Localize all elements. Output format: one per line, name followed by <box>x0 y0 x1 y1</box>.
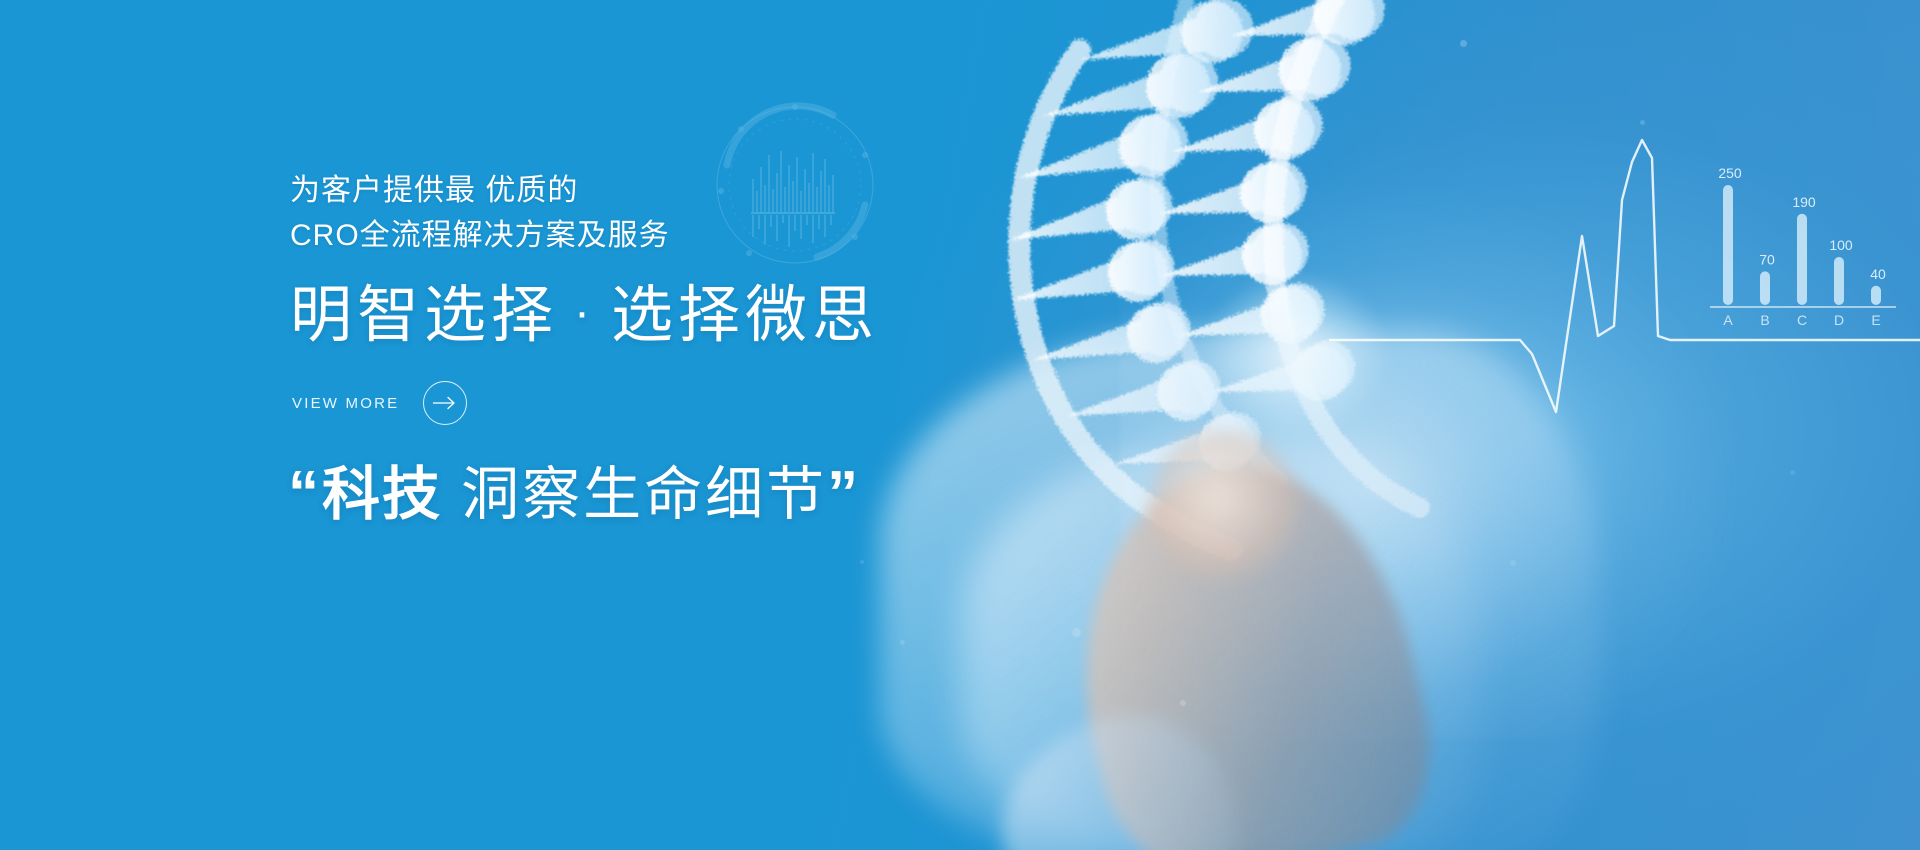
hero-content: 为客户提供最 优质的 CRO全流程解决方案及服务 明智选择·选择微思 VIEW … <box>290 0 1190 850</box>
chart-value-label: 100 <box>1829 237 1853 253</box>
bokeh-dot <box>1790 470 1795 475</box>
quote-close-mark: ” <box>827 459 861 528</box>
hero-subtitle-line1: 为客户提供最 优质的 <box>290 174 578 207</box>
chart-category-label: E <box>1871 312 1880 328</box>
quote-light-text: 洞察生命细节 <box>461 462 827 527</box>
chart-category-label: C <box>1797 312 1807 328</box>
view-more-button[interactable]: VIEW MORE <box>292 381 467 425</box>
hero-headline: 明智选择·选择微思 <box>290 275 879 354</box>
ekg-waveform-graphic <box>1370 140 1920 420</box>
headline-separator: · <box>558 286 611 339</box>
chart-category-label: B <box>1760 312 1769 328</box>
chart-bar <box>1871 286 1881 305</box>
chart-value-label: 190 <box>1792 194 1816 210</box>
bokeh-dot <box>1460 40 1467 47</box>
light-bloom <box>1120 180 1740 740</box>
chart-value-label: 250 <box>1718 165 1742 181</box>
arrow-right-icon[interactable] <box>423 381 467 425</box>
hero-subtitle: 为客户提供最 优质的 CRO全流程解决方案及服务 <box>290 168 670 258</box>
headline-left: 明智选择 <box>290 281 558 350</box>
headline-right: 选择微思 <box>611 281 879 350</box>
hero-banner: 250A70B190C100D40E 为客户提供最 优质的 CRO全流程解决方案… <box>0 0 1920 850</box>
bar-chart-graphic: 250A70B190C100D40E <box>1700 155 1920 350</box>
chart-category-label: A <box>1723 312 1733 328</box>
bokeh-dot <box>1640 120 1645 125</box>
bokeh-dot <box>1510 560 1516 566</box>
quote-open-mark: “ <box>288 459 322 528</box>
light-core <box>1200 270 1390 440</box>
chart-bar <box>1723 185 1733 305</box>
view-more-label: VIEW MORE <box>292 395 399 412</box>
chart-bar <box>1797 214 1807 305</box>
chart-value-label: 70 <box>1759 251 1775 267</box>
chart-bar <box>1760 271 1770 305</box>
chart-category-label: D <box>1834 312 1844 328</box>
hero-quote: “科技 洞察生命细节” <box>288 452 861 537</box>
quote-strong-text: 科技 <box>322 462 442 527</box>
chart-bar <box>1834 257 1844 305</box>
chart-value-label: 40 <box>1870 266 1886 282</box>
hero-subtitle-line2: CRO全流程解决方案及服务 <box>290 213 670 258</box>
